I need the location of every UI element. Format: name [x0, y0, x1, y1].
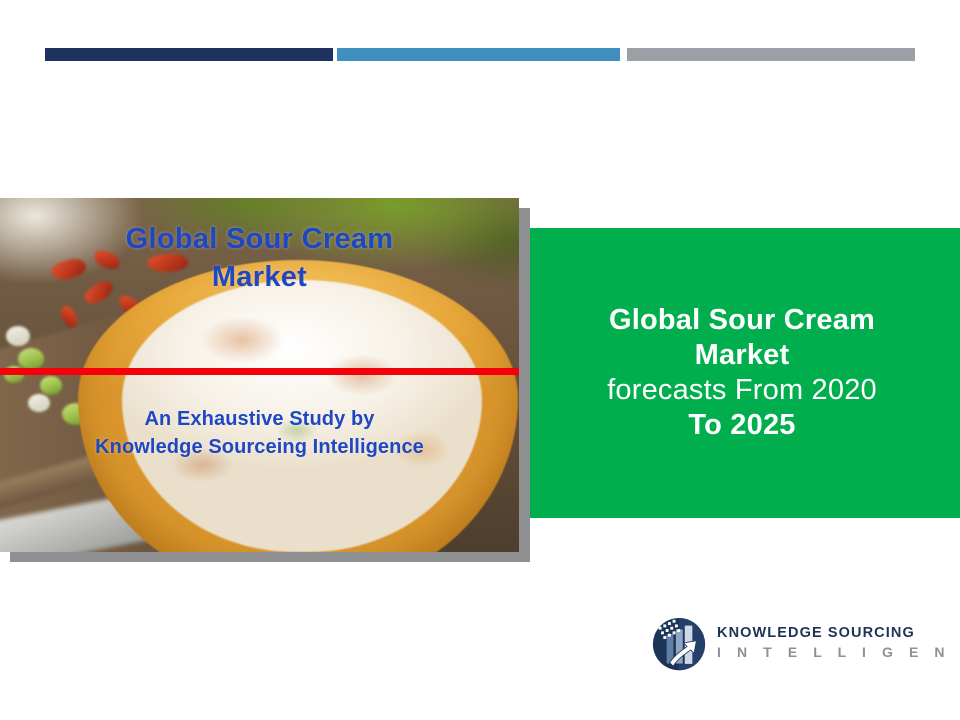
- scallion-piece: [40, 376, 62, 395]
- green-panel-line-4: To 2025: [607, 408, 877, 443]
- cover-image-subtitle: An Exhaustive Study by Knowledge Sourcei…: [0, 405, 519, 462]
- knowledge-sourcing-emblem-icon: [650, 614, 708, 672]
- logo-line-1: KNOWLEDGE SOURCING: [717, 624, 960, 642]
- green-panel-line-2: Market: [607, 338, 877, 373]
- top-bar-gray: [627, 48, 915, 61]
- green-panel-line-3: forecasts From 2020: [607, 373, 877, 408]
- cover-title-line-1: Global Sour Cream: [126, 223, 394, 255]
- cover-subtitle-line-2: Knowledge Sourceing Intelligence: [95, 436, 424, 458]
- cover-image: Global Sour Cream Market An Exhaustive S…: [0, 198, 519, 552]
- green-panel-text: Global Sour Cream Market forecasts From …: [607, 303, 877, 442]
- knowledge-sourcing-logo: KNOWLEDGE SOURCING I N T E L L I G E N C…: [650, 612, 885, 674]
- top-bar-blue: [337, 48, 620, 61]
- top-bar-group: [0, 0, 960, 80]
- red-divider-rule: [0, 368, 519, 375]
- green-panel-line-1: Global Sour Cream: [607, 303, 877, 338]
- scallion-piece: [18, 348, 44, 370]
- cover-title-line-2: Market: [212, 261, 307, 293]
- scallion-piece: [6, 326, 30, 346]
- green-title-panel: Global Sour Cream Market forecasts From …: [521, 228, 960, 518]
- cover-image-title: Global Sour Cream Market: [0, 221, 519, 296]
- logo-wordmark: KNOWLEDGE SOURCING I N T E L L I G E N C…: [717, 624, 960, 661]
- logo-line-2: I N T E L L I G E N C E: [717, 643, 960, 662]
- cover-subtitle-line-1: An Exhaustive Study by: [144, 408, 374, 430]
- top-bar-navy: [45, 48, 333, 61]
